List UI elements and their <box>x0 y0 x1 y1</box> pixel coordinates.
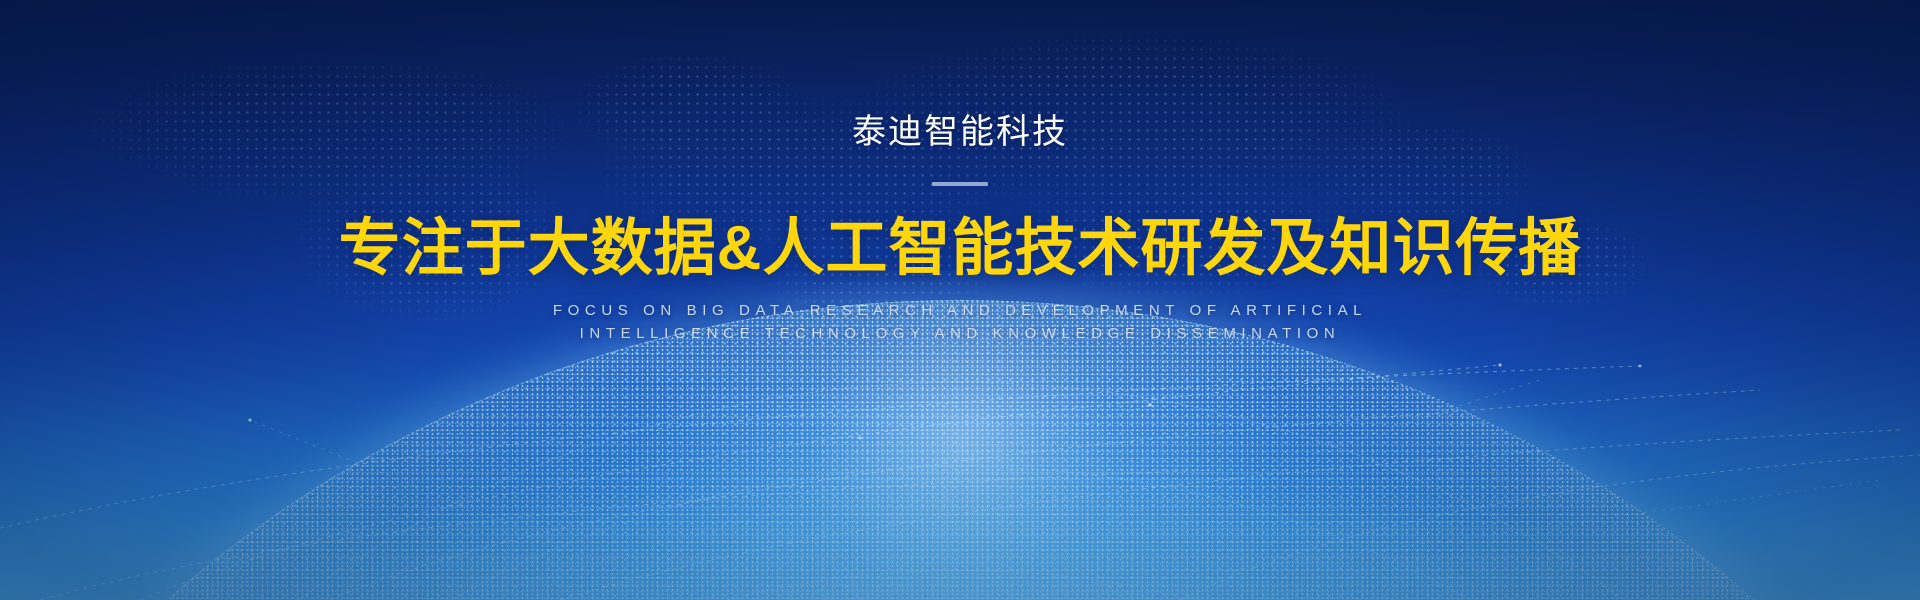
brand-title: 泰迪智能科技 <box>852 112 1068 153</box>
banner-content: 泰迪智能科技 专注于大数据&人工智能技术研发及知识传播 FOCUS ON BIG… <box>0 0 1920 600</box>
title-divider <box>932 182 988 186</box>
network-lines <box>0 270 1920 600</box>
globe-latitude-arc-3 <box>20 570 1902 600</box>
vignette-overlay <box>0 0 1920 600</box>
globe-latitude-arc-2 <box>0 466 1920 600</box>
globe-glow <box>0 300 1920 600</box>
globe-cityscape-lights <box>0 300 1920 600</box>
globe-rim-arc <box>0 300 1920 600</box>
subtitle: FOCUS ON BIG DATA-RESEARCH AND DEVELOPME… <box>553 299 1367 345</box>
globe-latitude-arc-1 <box>0 382 1920 600</box>
dot-world-map-pattern <box>0 0 1920 330</box>
subtitle-line-1: FOCUS ON BIG DATA-RESEARCH AND DEVELOPME… <box>553 299 1367 322</box>
hero-banner: 泰迪智能科技 专注于大数据&人工智能技术研发及知识传播 FOCUS ON BIG… <box>0 0 1920 600</box>
subtitle-line-2: INTELLIGENCE TECHNOLOGY AND KNOWLEDGE DI… <box>553 322 1367 345</box>
headline: 专注于大数据&人工智能技术研发及知识传播 <box>339 214 1582 283</box>
globe-decoration <box>0 270 1920 600</box>
bottom-glow <box>0 370 1920 600</box>
